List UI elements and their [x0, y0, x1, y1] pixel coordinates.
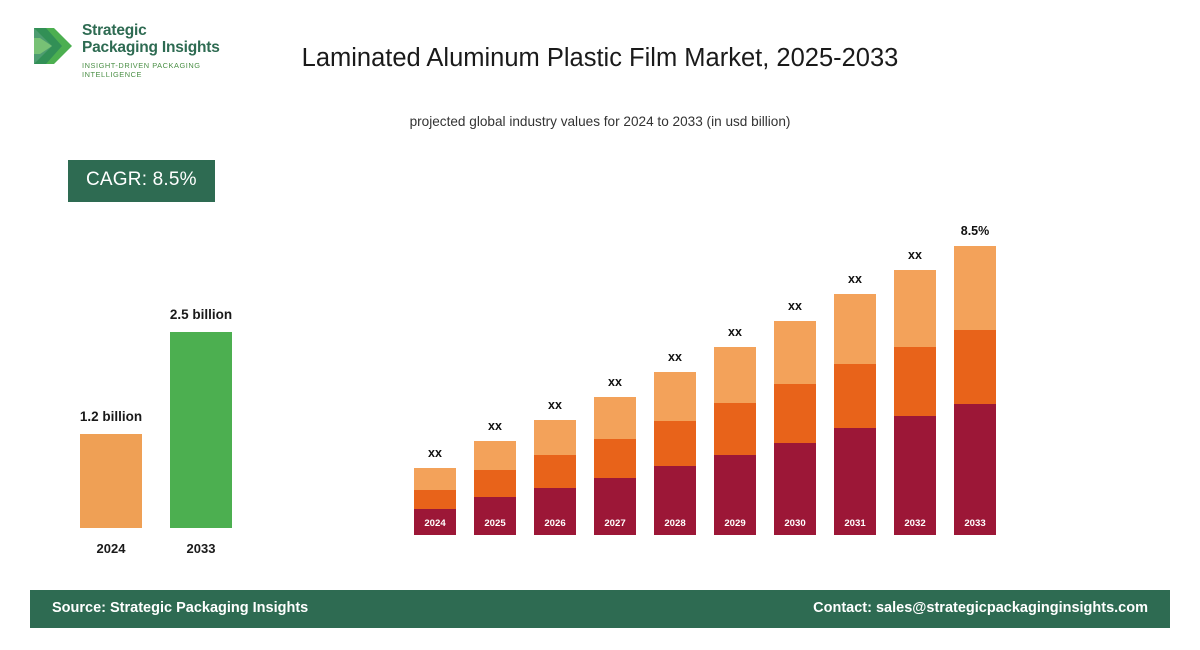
stacked-segment-segment-2-2028: [654, 421, 696, 466]
market-size-comparison-chart: 20241.2 billion20332.5 billion: [60, 300, 280, 570]
stacked-segment-segment-2-2030: [774, 384, 816, 443]
stacked-segment-segment-3-2029: [714, 347, 756, 403]
stacked-forecast-chart: xx2024xx2025xx2026xx2027xx2028xx2029xx20…: [400, 195, 1020, 560]
footer-source: Source: Strategic Packaging Insights: [52, 600, 308, 616]
stacked-bar-year-2029: 2029: [714, 518, 756, 529]
page-title: Laminated Aluminum Plastic Film Market, …: [290, 40, 910, 76]
stacked-bar-year-2032: 2032: [894, 518, 936, 529]
infographic-page: Strategic Packaging Insights INSIGHT-DRI…: [0, 0, 1200, 650]
stacked-bar-year-2030: 2030: [774, 518, 816, 529]
stacked-bar-year-2031: 2031: [834, 518, 876, 529]
stacked-segment-segment-3-2026: [534, 420, 576, 455]
stacked-bar-top-label-2025: xx: [465, 419, 525, 433]
mini-bar-year-2033: 2033: [170, 541, 232, 556]
stacked-segment-segment-3-2032: [894, 270, 936, 347]
footer-bar: Source: Strategic Packaging Insights Con…: [30, 590, 1170, 628]
company-logo: Strategic Packaging Insights INSIGHT-DRI…: [32, 18, 262, 80]
stacked-segment-segment-2-2029: [714, 403, 756, 455]
mini-bar-year-2024: 2024: [80, 541, 142, 556]
stacked-segment-segment-3-2027: [594, 397, 636, 439]
stacked-bar-top-label-2033: 8.5%: [945, 224, 1005, 238]
stacked-bar-year-2028: 2028: [654, 518, 696, 529]
stacked-segment-segment-3-2033: [954, 246, 996, 330]
mini-bar-value-2024: 1.2 billion: [51, 409, 171, 424]
stacked-segment-segment-1-2033: [954, 404, 996, 535]
stacked-segment-segment-3-2028: [654, 372, 696, 421]
stacked-bar-top-label-2026: xx: [525, 398, 585, 412]
stacked-segment-segment-2-2027: [594, 439, 636, 478]
stacked-segment-segment-2-2025: [474, 470, 516, 497]
stacked-bar-2029: [714, 347, 756, 535]
green-chevron-logo-mark: [32, 24, 74, 68]
stacked-bar-2033: [954, 246, 996, 535]
cagr-badge: CAGR: 8.5%: [68, 160, 215, 202]
stacked-bar-2032: [894, 270, 936, 535]
stacked-segment-segment-3-2025: [474, 441, 516, 470]
stacked-segment-segment-2-2031: [834, 364, 876, 428]
stacked-segment-segment-3-2024: [414, 468, 456, 490]
page-subtitle: projected global industry values for 202…: [290, 114, 910, 129]
stacked-segment-segment-2-2032: [894, 347, 936, 416]
logo-line-2: Packaging Insights: [82, 39, 262, 56]
mini-bar-2024: [80, 434, 142, 528]
stacked-bar-top-label-2027: xx: [585, 375, 645, 389]
stacked-segment-segment-1-2025: [474, 497, 516, 535]
logo-wordmark: Strategic Packaging Insights INSIGHT-DRI…: [82, 22, 262, 79]
stacked-bar-top-label-2028: xx: [645, 350, 705, 364]
stacked-bar-top-label-2031: xx: [825, 272, 885, 286]
mini-bar-2033: [170, 332, 232, 528]
stacked-segment-segment-3-2031: [834, 294, 876, 364]
stacked-bar-year-2024: 2024: [414, 518, 456, 529]
footer-contact: Contact: sales@strategicpackaginginsight…: [813, 600, 1148, 616]
logo-line-1: Strategic: [82, 22, 262, 39]
stacked-bar-top-label-2030: xx: [765, 299, 825, 313]
stacked-bar-2027: [594, 397, 636, 535]
mini-bar-value-2033: 2.5 billion: [141, 307, 261, 322]
stacked-bar-top-label-2029: xx: [705, 325, 765, 339]
stacked-segment-segment-2-2024: [414, 490, 456, 509]
stacked-bar-year-2027: 2027: [594, 518, 636, 529]
stacked-segment-segment-3-2030: [774, 321, 816, 384]
stacked-segment-segment-2-2026: [534, 455, 576, 488]
stacked-bar-year-2026: 2026: [534, 518, 576, 529]
stacked-bar-2031: [834, 294, 876, 535]
stacked-bar-year-2025: 2025: [474, 518, 516, 529]
logo-tagline: INSIGHT-DRIVEN PACKAGING INTELLIGENCE: [82, 61, 262, 79]
stacked-bar-2030: [774, 321, 816, 535]
stacked-bar-year-2033: 2033: [954, 518, 996, 529]
stacked-bar-2028: [654, 372, 696, 535]
stacked-segment-segment-2-2033: [954, 330, 996, 404]
stacked-bar-top-label-2024: xx: [405, 446, 465, 460]
stacked-bar-top-label-2032: xx: [885, 248, 945, 262]
